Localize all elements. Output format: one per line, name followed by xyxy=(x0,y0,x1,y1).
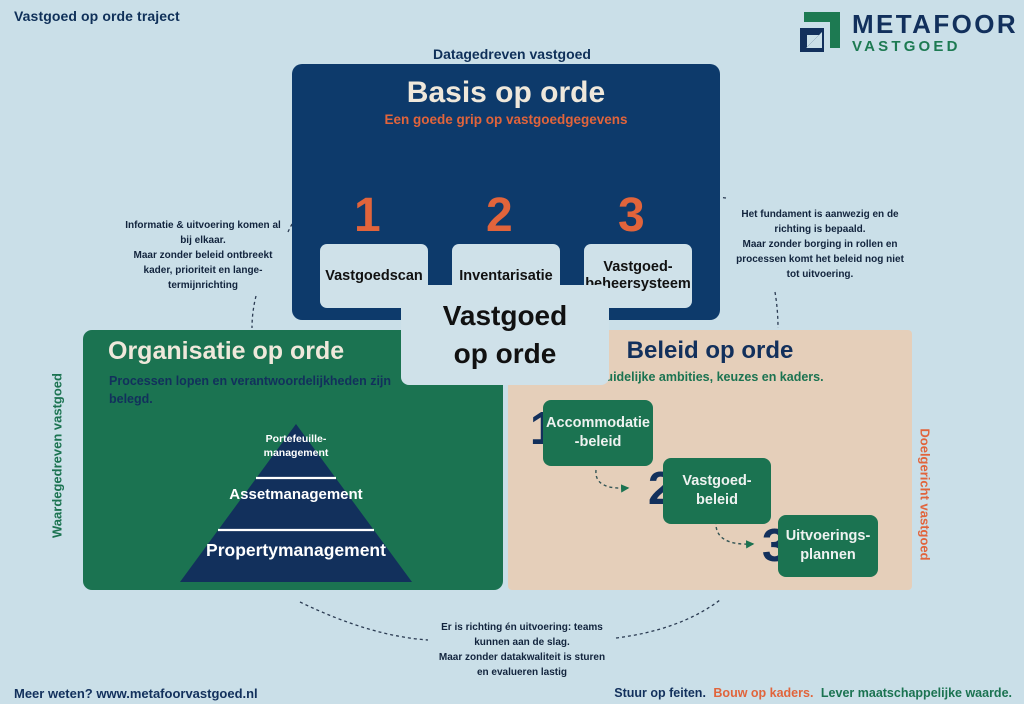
footer-tagline-part3: Lever maatschappelijke waarde. xyxy=(821,686,1012,700)
basis-step-3-number: 3 xyxy=(618,192,645,240)
organisatie-subtitle: Processen lopen en verantwoordelijkheden… xyxy=(109,372,399,408)
page-title: Vastgoed op orde traject xyxy=(14,8,180,24)
centre-line-2: op orde xyxy=(454,338,557,370)
logo-word: METAFOOR xyxy=(852,10,1018,38)
left-vertical-label: Waardegedreven vastgoed xyxy=(50,356,65,556)
basis-subtitle: Een goede grip op vastgoedgegevens xyxy=(292,112,720,127)
organisatie-title: Organisatie op orde xyxy=(108,337,344,366)
top-caption: Datagedreven vastgoed xyxy=(0,46,1024,62)
basis-op-orde-card: Basis op orde Een goede grip op vastgoed… xyxy=(292,64,720,320)
annotation-right: Het fundament is aanwezig en de richting… xyxy=(730,207,910,282)
infographic-canvas: Vastgoed op orde traject METAFOOR VASTGO… xyxy=(0,0,1024,704)
basis-title: Basis op orde xyxy=(292,76,720,110)
annotation-left: Informatie & uitvoering komen al bij elk… xyxy=(118,218,288,293)
basis-step-2-number: 2 xyxy=(486,192,513,240)
footer-tagline-part1: Stuur op feiten. xyxy=(614,686,706,700)
basis-step-1-number: 1 xyxy=(354,192,381,240)
management-pyramid: Portefeuille-management Assetmanagement … xyxy=(180,424,412,582)
beleid-step-3-label: Uitvoerings-plannen xyxy=(778,515,878,577)
right-vertical-label: Doelgericht vastgoed xyxy=(918,395,933,595)
pyramid-level-portefeuille: Portefeuille-management xyxy=(180,432,412,460)
footer-website[interactable]: Meer weten? www.metafoorvastgoed.nl xyxy=(14,686,258,701)
pyramid-level-property: Propertymanagement xyxy=(180,540,412,561)
footer-tagline-part2: Bouw op kaders. xyxy=(713,686,813,700)
centre-callout: Vastgoed op orde xyxy=(401,285,609,385)
beleid-step-2-label: Vastgoed-beleid xyxy=(663,458,771,524)
footer-tagline: Stuur op feiten. Bouw op kaders. Lever m… xyxy=(614,686,1012,700)
annotation-bottom: Er is richting én uitvoering: teams kunn… xyxy=(432,620,612,680)
beleid-step-1-label: Accommodatie-beleid xyxy=(543,400,653,466)
centre-line-1: Vastgoed xyxy=(443,300,567,332)
pyramid-level-asset: Assetmanagement xyxy=(180,486,412,503)
